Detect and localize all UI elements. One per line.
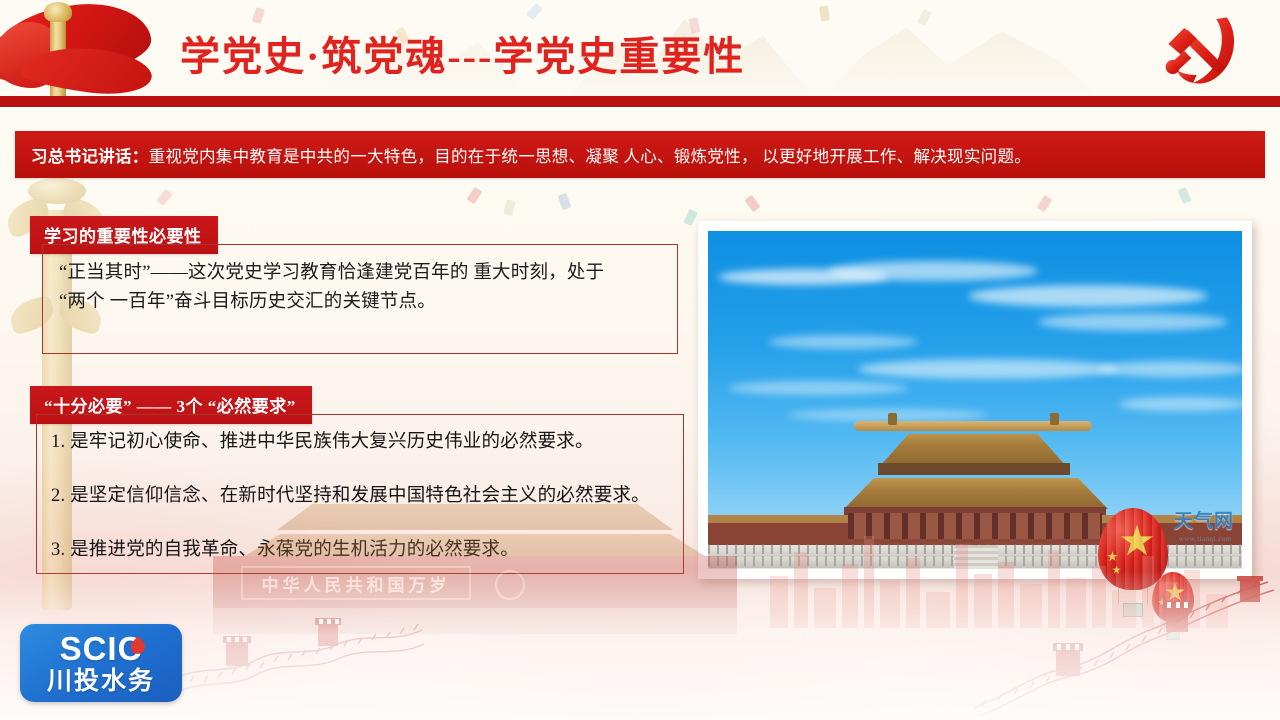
header-divider-highlight [0,107,1280,110]
logo-text-scic: SCIC [60,632,143,665]
confetti-particle [744,195,760,212]
importance-textbox: “正当其时”——这次党史学习教育恰逢建党百年的 重大时刻，处于 “两个 一百年”… [42,244,678,354]
header-divider [0,96,1280,107]
requirements-list-box: 1. 是牢记初心使命、推进中华民族伟大复兴历史伟业的必然要求。 2. 是坚定信仰… [36,414,684,574]
logo-text-chinese: 川投水务 [47,668,155,694]
confetti-particle [1037,195,1053,212]
list-item: 1. 是牢记初心使命、推进中华民族伟大复兴历史伟业的必然要求。 [51,427,669,453]
confetti-particle [1178,187,1192,204]
chinese-flag-hot-air-balloon-small: ★ ★ [1152,572,1194,644]
importance-line-1: “正当其时”——这次党史学习教育恰逢建党百年的 重大时刻，处于 [59,259,659,288]
quote-speaker-label: 习总书记讲话： [31,147,149,166]
page-title: 学党史·筑党魂---学党史重要性 [180,24,745,82]
photo-watermark-url: www.tianqi.com [1179,535,1232,543]
slide-header: 学党史·筑党魂---学党史重要性 [0,0,1280,96]
quote-banner: 习总书记讲话：重视党内集中教育是中共的一大特色，目的在于统一思想、凝聚 人心、锻… [15,131,1265,178]
company-logo: SCIC 川投水务 [20,624,182,702]
slide-canvas: 学党史·筑党魂---学党史重要性 [0,0,1280,720]
photo-watermark: 天气网 [1174,506,1234,533]
quote-text: 习总书记讲话：重视党内集中教育是中共的一大特色，目的在于统一思想、凝聚 人心、锻… [15,143,1031,167]
logo-main-label: SCIC [60,630,143,667]
list-item: 2. 是坚定信仰信念、在新时代坚持和发展中国特色社会主义的必然要求。 [51,481,669,507]
quote-body: 重视党内集中教育是中共的一大特色，目的在于统一思想、凝聚 人心、锻炼党性， 以更… [149,147,1031,166]
importance-line-2: “两个 一百年”奋斗目标历史交汇的关键节点。 [59,288,659,317]
list-item: 3. 是推进党的自我革命、永葆党的生机活力的必然要求。 [51,535,669,561]
red-flag-ornament-icon [0,0,180,110]
photo-frame: 天气网 www.tianqi.com [698,221,1252,579]
cpc-hammer-sickle-emblem-icon [1156,12,1248,90]
content-left-column: 学习的重要性必要性 “正当其时”——这次党史学习教育恰逢建党百年的 重大时刻，处… [0,200,700,620]
